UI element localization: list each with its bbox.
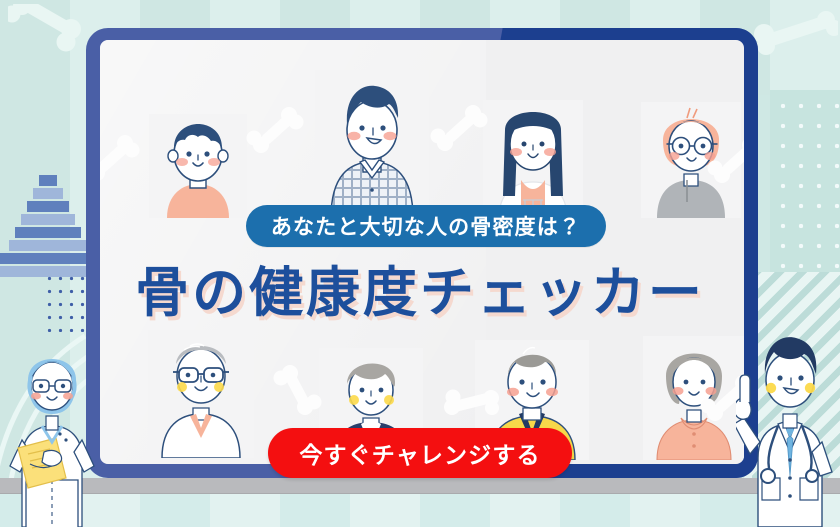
bone-icon-screen-4	[707, 132, 744, 190]
challenge-cta-label: 今すぐチャレンジする	[299, 436, 540, 470]
bone-icon-background-2	[752, 8, 838, 66]
bone-icon-screen-2	[430, 100, 488, 158]
page-title: 骨の健康度チェッカー	[0, 248, 840, 327]
avatar-child-short-hair-peach-top	[149, 114, 247, 218]
bone-icon-screen-5	[268, 362, 326, 420]
hero-banner: あなたと大切な人の骨密度は？ 骨の健康度チェッカー 今すぐチャレンジする	[0, 0, 840, 527]
character-nurse-with-clipboard	[4, 330, 100, 527]
subtitle-badge-label: あなたと大切な人の骨密度は？	[271, 211, 581, 241]
bone-icon-screen-6	[440, 380, 502, 426]
character-doctor-pointing-up	[736, 326, 840, 527]
page-title-text: 骨の健康度チェッカー	[135, 263, 705, 323]
bone-icon-background-1	[8, 4, 88, 66]
challenge-cta-button[interactable]: 今すぐチャレンジする	[268, 428, 572, 478]
bone-icon-screen-1	[246, 102, 304, 160]
avatar-young-woman-long-hair	[483, 100, 583, 218]
subtitle-badge: あなたと大切な人の骨密度は？	[246, 205, 606, 247]
background-floor-stripes	[0, 494, 840, 527]
avatar-senior-man-glasses-white-shirt	[148, 330, 254, 458]
avatar-man-checkered-shirt	[315, 70, 429, 218]
bone-icon-screen-3	[100, 130, 140, 188]
